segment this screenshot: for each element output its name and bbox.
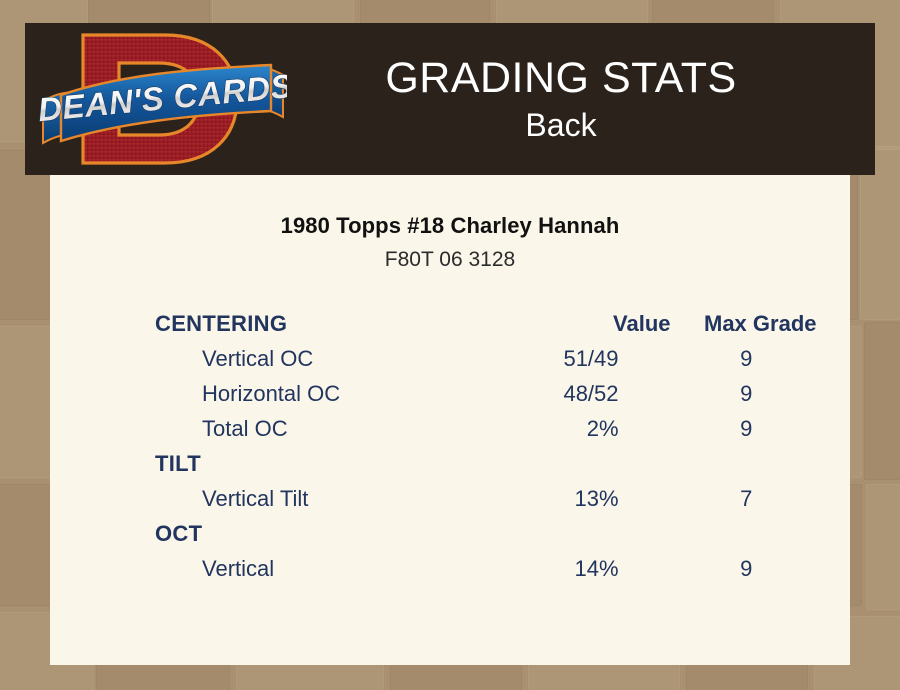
row-label: Vertical OC bbox=[50, 341, 497, 376]
grading-stats-body: CENTERING Value Max Grade Vertical OC 51… bbox=[50, 306, 850, 586]
section-label-tilt: TILT bbox=[50, 446, 497, 481]
row-value: 48/52 bbox=[497, 376, 671, 411]
row-label: Vertical bbox=[50, 551, 497, 586]
section-spacer bbox=[497, 516, 671, 551]
row-grade: 9 bbox=[671, 411, 850, 446]
card-title: 1980 Topps #18 Charley Hannah bbox=[50, 213, 850, 239]
row-label: Vertical Tilt bbox=[50, 481, 497, 516]
column-header-max-grade: Max Grade bbox=[671, 306, 850, 341]
row-value: 13% bbox=[497, 481, 671, 516]
row-grade: 9 bbox=[671, 551, 850, 586]
row-value: 51/49 bbox=[497, 341, 671, 376]
deans-cards-logo[interactable]: DEAN'S CARDS DEAN'S CARDS bbox=[25, 23, 287, 175]
section-header-centering: CENTERING Value Max Grade bbox=[50, 306, 850, 341]
row-value: 14% bbox=[497, 551, 671, 586]
deans-cards-logo-icon: DEAN'S CARDS bbox=[39, 27, 287, 173]
header-title-block: GRADING STATS Back bbox=[287, 53, 875, 145]
row-grade: 9 bbox=[671, 341, 850, 376]
section-spacer bbox=[671, 516, 850, 551]
section-label-centering: CENTERING bbox=[50, 306, 497, 341]
table-row: Total OC 2% 9 bbox=[50, 411, 850, 446]
row-grade: 9 bbox=[671, 376, 850, 411]
table-row: Vertical 14% 9 bbox=[50, 551, 850, 586]
page-header: DEAN'S CARDS DEAN'S CARDS GRADING STATS … bbox=[25, 23, 875, 175]
page-subtitle: Back bbox=[287, 105, 835, 145]
table-row: Vertical OC 51/49 9 bbox=[50, 341, 850, 376]
section-label-oct: OCT bbox=[50, 516, 497, 551]
content-panel: 1980 Topps #18 Charley Hannah F80T 06 31… bbox=[50, 175, 850, 665]
section-spacer bbox=[671, 446, 850, 481]
card-serial-number: F80T 06 3128 bbox=[50, 248, 850, 272]
section-header-tilt: TILT bbox=[50, 446, 850, 481]
column-header-value: Value bbox=[497, 306, 671, 341]
row-grade: 7 bbox=[671, 481, 850, 516]
page-title: GRADING STATS bbox=[287, 53, 835, 103]
row-label: Total OC bbox=[50, 411, 497, 446]
grading-stats-page: DEAN'S CARDS DEAN'S CARDS GRADING STATS … bbox=[0, 0, 900, 690]
section-header-oct: OCT bbox=[50, 516, 850, 551]
grading-stats-table: CENTERING Value Max Grade Vertical OC 51… bbox=[50, 306, 850, 586]
table-row: Vertical Tilt 13% 7 bbox=[50, 481, 850, 516]
section-spacer bbox=[497, 446, 671, 481]
row-value: 2% bbox=[497, 411, 671, 446]
row-label: Horizontal OC bbox=[50, 376, 497, 411]
table-row: Horizontal OC 48/52 9 bbox=[50, 376, 850, 411]
